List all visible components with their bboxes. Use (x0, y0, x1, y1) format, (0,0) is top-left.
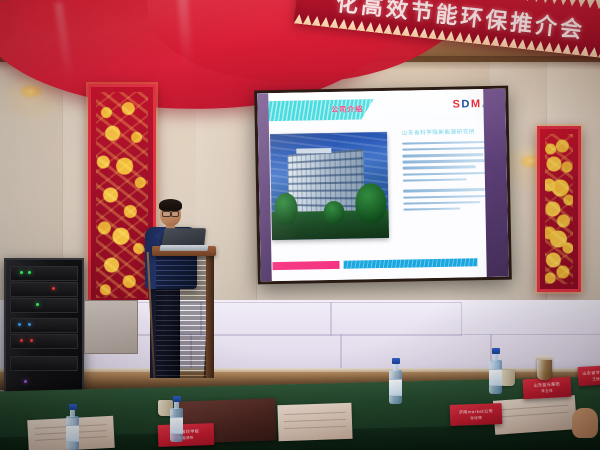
slide-text-line (403, 166, 476, 170)
conference-hall-photo: 化高效节能环保推介会 公司介绍 SDM 山东蓝光 (0, 0, 600, 450)
water-bottle[interactable] (170, 396, 183, 442)
bottle-cap (492, 348, 500, 354)
led-screen-frame: 公司介绍 SDM 山东蓝光 (254, 86, 512, 285)
water-bottle[interactable] (489, 348, 502, 394)
status-led (36, 303, 39, 306)
tea-glass[interactable] (537, 358, 552, 380)
bottle-neck (70, 409, 75, 417)
slide-building-photo (270, 132, 389, 239)
slide-text-line (402, 147, 491, 151)
lectern-side-panel (206, 255, 214, 378)
logo-letter-d: D (461, 99, 469, 111)
lectern-body (156, 255, 212, 378)
bottle-cap (392, 358, 400, 364)
name-placard[interactable]: 济南market公司 张经理 (450, 403, 503, 426)
slide-text-line (403, 188, 486, 192)
slide-text-line (403, 194, 491, 198)
bottle-neck (493, 353, 498, 361)
document-line (500, 405, 569, 411)
name-placard[interactable]: 山东蓝光集团 李主任 (523, 377, 572, 399)
status-led (18, 323, 21, 326)
slide-right-accent-bar (483, 89, 509, 277)
bottle-neck (393, 363, 398, 371)
bottle-cap (69, 404, 77, 410)
bottle-label (66, 425, 79, 442)
handout-document[interactable] (493, 395, 577, 435)
wall-control-box[interactable] (84, 300, 138, 354)
placard-line-2: 张经理 (470, 415, 482, 420)
bottle-label (489, 369, 502, 386)
logo-letter-m: M (471, 99, 480, 111)
placard-line-2: 王秘书 (592, 376, 600, 382)
status-led (52, 287, 55, 290)
scrollwork-texture (96, 92, 148, 298)
building-roof (296, 148, 331, 154)
stage-tile (200, 302, 332, 336)
tea-glass-lid (536, 356, 553, 360)
photo-tree (355, 183, 386, 224)
slide-text-line (403, 178, 467, 182)
placard-line-2: 李主任 (541, 389, 553, 395)
slide-text-line (402, 153, 483, 157)
slide-header-text: 公司介绍 (331, 104, 363, 115)
lectern (156, 246, 212, 378)
logo-letter-s: S (453, 99, 460, 111)
rack-unit (10, 282, 78, 297)
document-line (284, 426, 346, 429)
slide-header-banner: 公司介绍 (265, 99, 374, 122)
bottle-cap (173, 396, 181, 402)
name-placard[interactable]: 山东省节能协会 王秘书 (578, 365, 600, 386)
slide-text-block: 山东省科学院新能源研究所 (402, 126, 495, 214)
bottle-neck (174, 401, 179, 409)
slide-text-line (402, 159, 489, 163)
status-led (20, 339, 23, 342)
placard-line-1: 济南market公司 (459, 408, 493, 415)
document-line (284, 412, 346, 415)
slide-text-line (403, 172, 488, 176)
placard-line-1: 山东蓝光集团 (534, 381, 561, 388)
status-led (24, 380, 27, 383)
slide-text-line (402, 141, 486, 145)
footer-bar-blue (344, 258, 478, 268)
presentation-slide: 公司介绍 SDM 山东蓝光 (257, 89, 509, 282)
photo-tree (323, 200, 344, 224)
status-led (30, 339, 33, 342)
bottle-label (389, 379, 402, 396)
status-led (28, 271, 31, 274)
handout-document[interactable] (277, 403, 352, 442)
ceiling-downlight (20, 86, 42, 98)
status-led (28, 323, 31, 326)
bottle-label (170, 417, 183, 434)
scrollwork-texture (545, 134, 573, 284)
slide-text-line (403, 207, 460, 211)
led-presentation-screen: 公司介绍 SDM 山东蓝光 (257, 89, 509, 282)
stage-tile (330, 302, 462, 336)
chinese-scrollwork-panel-right (537, 126, 581, 292)
placard-line-1: 山东省节能协会 (582, 369, 600, 377)
eyeglasses-icon (162, 210, 179, 215)
name-placard[interactable]: 山东省科学院 新能源所 (158, 423, 215, 447)
slide-body-title: 山东省科学院新能源研究所 (402, 126, 494, 136)
status-led (20, 271, 23, 274)
rack-unit (10, 298, 78, 313)
footer-bar-pink (273, 261, 340, 270)
document-line (501, 412, 570, 418)
water-bottle[interactable] (66, 404, 79, 450)
document-line (284, 419, 346, 422)
slide-footer-bars (260, 258, 508, 270)
laptop-keyboard[interactable] (160, 245, 209, 251)
water-bottle[interactable] (389, 358, 402, 404)
paper-cup[interactable] (500, 370, 515, 386)
attendee-hand (572, 408, 598, 438)
slide-text-line (403, 201, 480, 205)
photo-tree (274, 193, 298, 225)
